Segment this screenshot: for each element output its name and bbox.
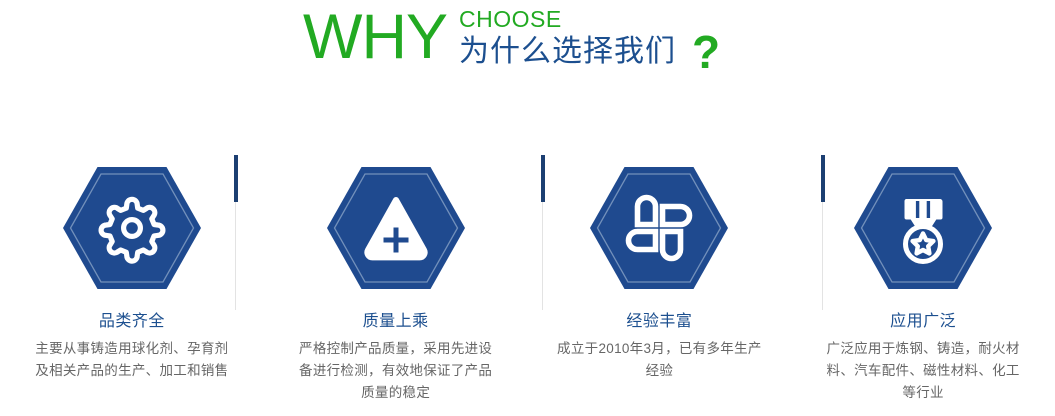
feature-card-4[interactable]: 应用广泛 广泛应用于炼钢、铸造，耐火材料、汽车配件、磁性材料、化工等行业 [791, 150, 1055, 416]
header-title-group: WHY CHOOSE 为什么选择我们 ? [303, 2, 720, 72]
header-chinese-line: 为什么选择我们 ? [459, 32, 720, 72]
header-chinese-title: 为什么选择我们 [459, 34, 676, 70]
hexagon-badge [63, 166, 201, 290]
card-title: 经验丰富 [626, 312, 692, 332]
card-body-text: 广泛应用于炼钢、铸造，耐火材料、汽车配件、磁性材料、化工等行业 [821, 338, 1026, 404]
question-mark-icon: ? [692, 32, 720, 72]
feature-card-2[interactable]: 质量上乘 严格控制产品质量，采用先进设备进行检测，有效地保证了产品质量的稳定 [264, 150, 528, 416]
header-choose-word: CHOOSE [459, 6, 720, 32]
gear-icon [63, 166, 201, 290]
clover-icon [590, 166, 728, 290]
feature-cards-row: 品类齐全 主要从事铸造用球化剂、孕育剂及相关产品的生产、加工和销售 质量上乘 严… [0, 150, 1055, 416]
card-body-text: 主要从事铸造用球化剂、孕育剂及相关产品的生产、加工和销售 [29, 338, 234, 382]
card-title: 质量上乘 [363, 312, 429, 332]
hexagon-badge [327, 166, 465, 290]
medal-icon [854, 166, 992, 290]
hexagon-badge [854, 166, 992, 290]
triangle-plus-icon [327, 166, 465, 290]
card-title: 应用广泛 [890, 312, 956, 332]
header-text-stack: CHOOSE 为什么选择我们 ? [459, 2, 720, 72]
card-body-text: 严格控制产品质量，采用先进设备进行检测，有效地保证了产品质量的稳定 [293, 338, 498, 404]
feature-card-1[interactable]: 品类齐全 主要从事铸造用球化剂、孕育剂及相关产品的生产、加工和销售 [0, 150, 264, 416]
section-header: WHY CHOOSE 为什么选择我们 ? [0, 0, 1055, 90]
header-why-word: WHY [303, 2, 447, 72]
hexagon-badge [590, 166, 728, 290]
feature-card-3[interactable]: 经验丰富 成立于2010年3月，已有多年生产经验 [528, 150, 792, 416]
card-body-text: 成立于2010年3月，已有多年生产经验 [557, 338, 762, 382]
card-title: 品类齐全 [99, 312, 165, 332]
